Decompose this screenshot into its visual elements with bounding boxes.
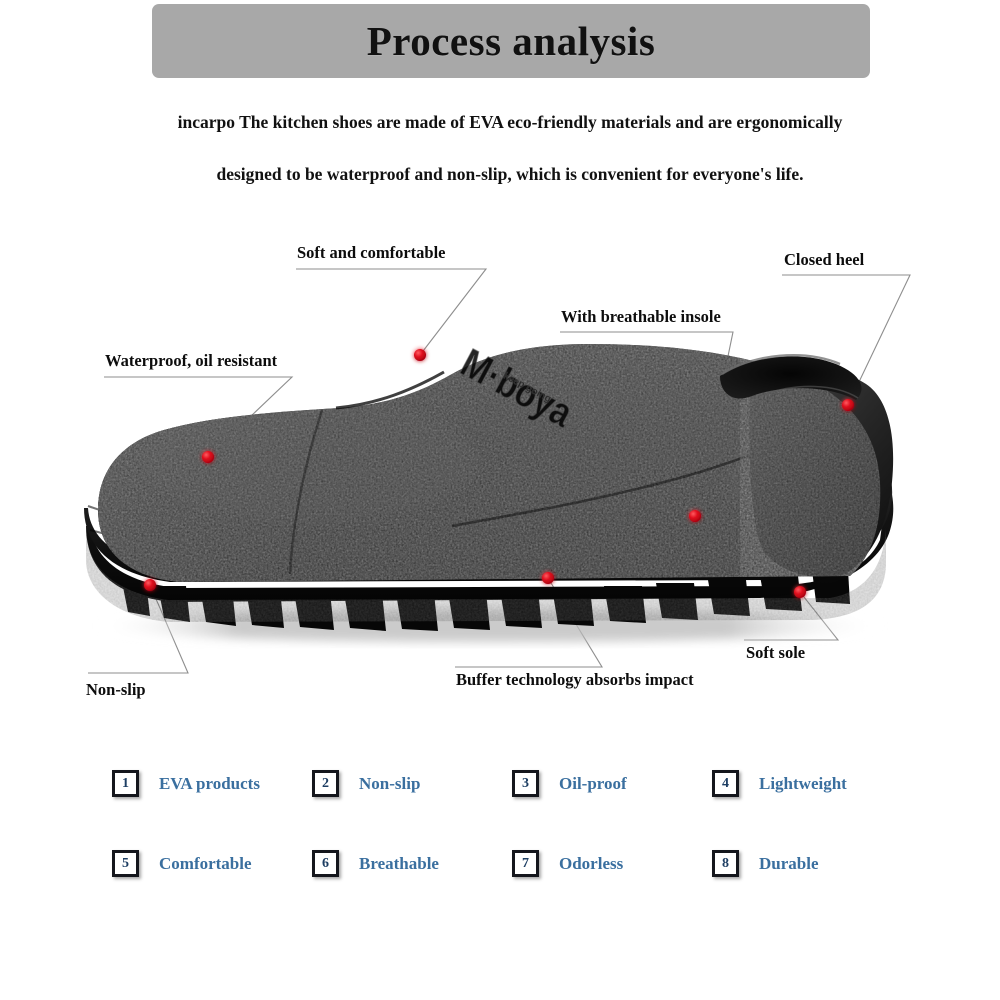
callout-label-soft-comfortable: Soft and comfortable	[297, 243, 445, 263]
callout-label-buffer-technology: Buffer technology absorbs impact	[456, 670, 694, 690]
feature-label: Lightweight	[759, 770, 847, 797]
feature-label: Odorless	[559, 850, 623, 877]
feature-label: EVA products	[159, 770, 260, 797]
feature-label: Durable	[759, 850, 819, 877]
feature-label: Breathable	[359, 850, 439, 877]
feature-number-box: 7	[512, 850, 539, 877]
feature-number: 8	[715, 853, 736, 874]
feature-item-durable[interactable]: 8 Durable	[712, 850, 912, 930]
feature-number-box: 6	[312, 850, 339, 877]
marker-dot-waterproof-oil	[202, 451, 214, 463]
marker-dot-buffer-technology	[542, 572, 554, 584]
feature-number: 1	[115, 773, 136, 794]
feature-number: 7	[515, 853, 536, 874]
feature-item-oil-proof[interactable]: 3 Oil-proof	[512, 770, 712, 850]
feature-item-eva-products[interactable]: 1 EVA products	[112, 770, 312, 850]
feature-number: 5	[115, 853, 136, 874]
feature-number: 3	[515, 773, 536, 794]
feature-number: 2	[315, 773, 336, 794]
product-photo-shoe: M·boya keep going	[60, 330, 940, 660]
marker-dot-breathable-insole	[689, 510, 701, 522]
feature-item-breathable[interactable]: 6 Breathable	[312, 850, 512, 930]
marker-dot-soft-sole	[794, 586, 806, 598]
feature-number-box: 8	[712, 850, 739, 877]
feature-number-box: 2	[312, 770, 339, 797]
marker-dot-closed-heel	[842, 399, 854, 411]
feature-row: 1 EVA products 2 Non-slip 3 Oil-proof 4	[112, 770, 912, 850]
callout-label-closed-heel: Closed heel	[784, 250, 864, 270]
callout-label-breathable-insole: With breathable insole	[561, 307, 721, 327]
feature-item-lightweight[interactable]: 4 Lightweight	[712, 770, 912, 850]
feature-number-box: 5	[112, 850, 139, 877]
feature-row: 5 Comfortable 6 Breathable 7 Odorless 8	[112, 850, 912, 930]
marker-dot-soft-comfortable	[414, 349, 426, 361]
feature-label: Oil-proof	[559, 770, 627, 797]
callout-label-non-slip: Non-slip	[86, 680, 146, 700]
feature-number-box: 3	[512, 770, 539, 797]
infographic-canvas: Process analysis incarpo The kitchen sho…	[0, 0, 1000, 1000]
feature-number: 4	[715, 773, 736, 794]
marker-dot-non-slip	[144, 579, 156, 591]
feature-label: Non-slip	[359, 770, 420, 797]
feature-number-box: 4	[712, 770, 739, 797]
feature-item-odorless[interactable]: 7 Odorless	[512, 850, 712, 930]
feature-item-non-slip[interactable]: 2 Non-slip	[312, 770, 512, 850]
feature-list: 1 EVA products 2 Non-slip 3 Oil-proof 4	[112, 770, 912, 930]
feature-number-box: 1	[112, 770, 139, 797]
feature-number: 6	[315, 853, 336, 874]
feature-item-comfortable[interactable]: 5 Comfortable	[112, 850, 312, 930]
feature-label: Comfortable	[159, 850, 252, 877]
